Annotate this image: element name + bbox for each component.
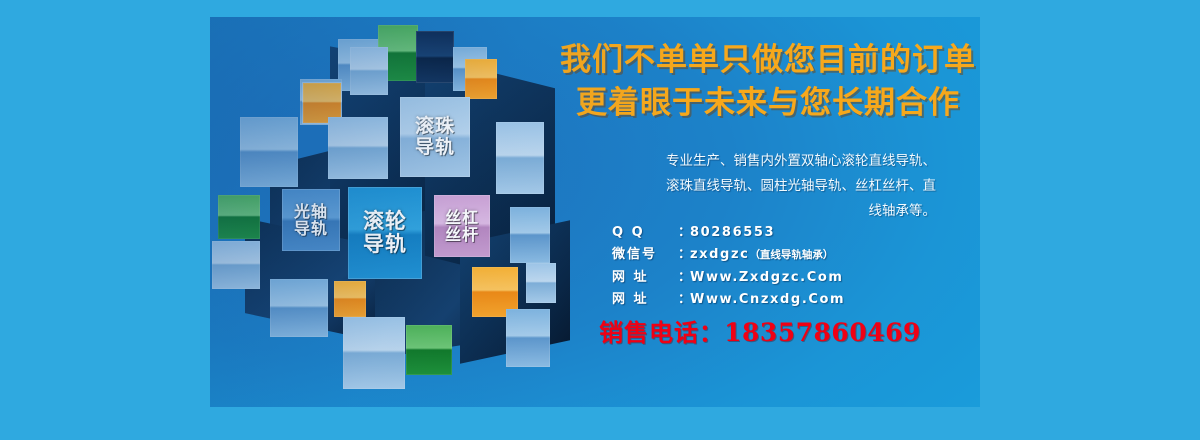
headline: 我们不单单只做您目前的订单 更着眼于未来与您长期合作: [558, 39, 978, 125]
cube-blue-bottomleft: [270, 279, 328, 337]
contact-value-qq[interactable]: 80286553: [690, 222, 775, 244]
cube-green-left: [218, 195, 260, 239]
product-cube-screw-rod-line2: 丝杆: [445, 226, 479, 243]
contact-row-website-2: 网 址 ： Www.Cnzxdg.Com: [612, 289, 972, 311]
headline-line-1: 我们不单单只做您目前的订单: [558, 39, 978, 82]
contact-colon-website-2: ：: [678, 289, 690, 311]
contact-row-website-1: 网 址 ： Www.Zxdgzc.Com: [612, 267, 972, 289]
description-line-2: 滚珠直线导轨、圆柱光轴导轨、丝杠丝杆、直: [596, 174, 936, 199]
headline-line-2: 更着眼于未来与您长期合作: [558, 82, 978, 125]
description-line-3: 线轴承等。: [596, 199, 936, 224]
cube-blue-left2: [212, 241, 260, 289]
product-cube-shaft-rail-line2: 导轨: [294, 220, 328, 237]
contact-colon-qq: ：: [678, 222, 690, 244]
contact-label-wechat: 微信号: [612, 244, 678, 266]
contact-label-website-1: 网 址: [612, 267, 678, 289]
contact-note-wechat: （直线导轨轴承）: [749, 246, 833, 264]
description: 专业生产、销售内外置双轴心滚轮直线导轨、 滚珠直线导轨、圆柱光轴导轨、丝杠丝杆、…: [596, 149, 936, 224]
product-cube-shaft-rail[interactable]: 光轴 导轨: [282, 189, 340, 251]
cube-green-bottom: [406, 325, 452, 375]
product-cube-roller-rail-line1: 滚轮: [363, 210, 407, 233]
sales-phone-number[interactable]: 18357860469: [724, 318, 921, 347]
cube-blue-left1: [240, 117, 298, 187]
cube-orange-upperright: [465, 59, 497, 99]
contact-block: Q Q ： 80286553 微信号 ： zxdgzc （直线导轨轴承） 网 址…: [612, 222, 972, 311]
product-cube-roller-rail-line2: 导轨: [363, 233, 407, 256]
cube-navy-top: [416, 31, 454, 83]
product-cube-shaft-rail-line1: 光轴: [294, 203, 328, 220]
product-cube-screw-rod[interactable]: 丝杠 丝杆: [434, 195, 490, 257]
cube-blue-right2: [510, 207, 550, 263]
cube-blue-center: [328, 117, 388, 179]
contact-colon-wechat: ：: [678, 244, 690, 266]
cube-blue-right1: [496, 122, 544, 194]
product-cube-roller-rail[interactable]: 滚轮 导轨: [348, 187, 422, 279]
contact-colon-website-1: ：: [678, 267, 690, 289]
description-line-1: 专业生产、销售内外置双轴心滚轮直线导轨、: [596, 149, 936, 174]
product-cube-ball-rail-line2: 导轨: [415, 137, 455, 158]
cube-blue-bottomcenter: [343, 317, 405, 389]
contact-row-qq: Q Q ： 80286553: [612, 222, 972, 244]
sales-phone[interactable]: 销售电话：18357860469: [540, 313, 980, 348]
contact-value-website-2[interactable]: Www.Cnzxdg.Com: [690, 289, 845, 311]
cube-orange-bottom1: [334, 281, 366, 317]
sales-phone-label: 销售电话：: [599, 319, 724, 347]
product-cube-ball-rail[interactable]: 滚珠 导轨: [400, 97, 470, 177]
contact-label-website-2: 网 址: [612, 289, 678, 311]
contact-row-wechat: 微信号 ： zxdgzc （直线导轨轴承）: [612, 244, 972, 266]
contact-label-qq: Q Q: [612, 222, 678, 244]
cube-blue-top2: [350, 47, 388, 95]
exploding-cubes-graphic: 滚珠 导轨 光轴 导轨 滚轮 导轨 丝杠 丝杆: [210, 17, 550, 407]
promo-banner: 滚珠 导轨 光轴 导轨 滚轮 导轨 丝杠 丝杆 我们不单单只做您目前的订单 更着…: [210, 17, 980, 407]
contact-value-wechat[interactable]: zxdgzc: [690, 244, 749, 266]
banner-copy: 我们不单单只做您目前的订单 更着眼于未来与您长期合作 专业生产、销售内外置双轴心…: [550, 17, 980, 407]
product-cube-screw-rod-line1: 丝杠: [445, 209, 479, 226]
contact-value-website-1[interactable]: Www.Zxdgzc.Com: [690, 267, 844, 289]
product-cube-ball-rail-line1: 滚珠: [415, 116, 455, 137]
